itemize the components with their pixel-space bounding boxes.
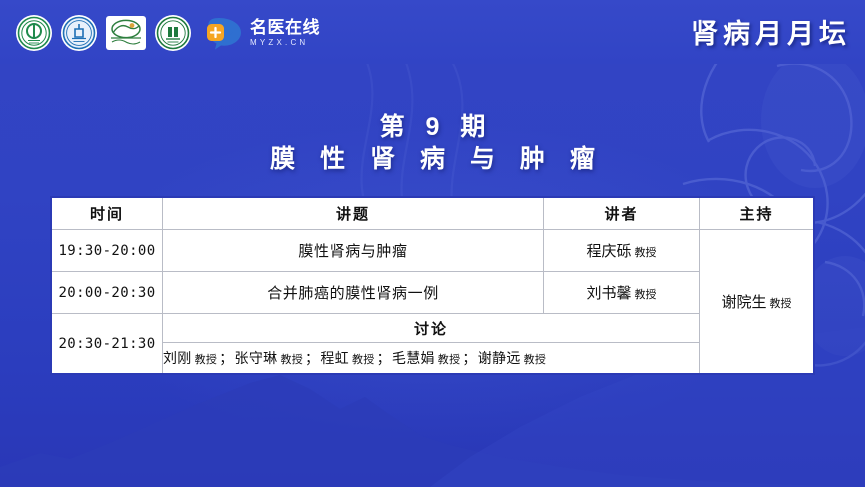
brand-title: 肾病月月坛 xyxy=(691,12,851,51)
myzx-wordmark: 名医在线 MYZX.CN xyxy=(250,19,320,47)
hospital-seal-2-icon xyxy=(61,15,97,51)
agenda-table: 时间 讲题 讲者 主持 19:30-20:00 膜性肾病与肿瘤 程庆砾教授 谢院… xyxy=(50,196,815,375)
myzx-domain: MYZX.CN xyxy=(250,39,320,47)
myzx-logo: 名医在线 MYZX.CN xyxy=(206,16,320,50)
issue-number: 第 9 期 xyxy=(0,112,865,143)
panelist-separator: ； xyxy=(462,350,476,366)
column-header-speaker: 讲者 xyxy=(544,197,700,230)
session-host: 谢院生教授 xyxy=(700,230,815,375)
myzx-name-cn: 名医在线 xyxy=(250,19,320,36)
host-title: 教授 xyxy=(770,298,792,310)
speaker-name: 刘书馨 xyxy=(586,285,631,302)
session-topic: 合并肺癌的膜性肾病一例 xyxy=(163,272,544,314)
column-header-host: 主持 xyxy=(700,197,815,230)
table-header-row: 时间 讲题 讲者 主持 xyxy=(51,197,814,230)
table-row: 19:30-20:00 膜性肾病与肿瘤 程庆砾教授 谢院生教授 xyxy=(51,230,814,272)
panelist-title: 教授 xyxy=(280,354,303,366)
session-topic: 膜 性 肾 病 与 肿 瘤 xyxy=(0,143,865,177)
top-bar: 名医在线 MYZX.CN 肾病月月坛 xyxy=(0,0,865,64)
speaker-name: 程庆砾 xyxy=(586,243,631,260)
panelist-name: 张守琳 xyxy=(235,350,278,366)
hospital-emblem-3-icon xyxy=(106,16,146,50)
panelist-title: 教授 xyxy=(524,354,547,366)
panelist-name: 谢静远 xyxy=(478,350,521,366)
column-header-topic: 讲题 xyxy=(163,197,544,230)
session-speaker: 刘书馨教授 xyxy=(544,272,700,314)
slide-root: 名医在线 MYZX.CN 肾病月月坛 第 9 期 膜 性 肾 病 与 肿 瘤 时… xyxy=(0,0,865,487)
agenda-container: 时间 讲题 讲者 主持 19:30-20:00 膜性肾病与肿瘤 程庆砾教授 谢院… xyxy=(50,196,810,375)
session-topic: 膜性肾病与肿瘤 xyxy=(163,230,544,272)
discussion-panelists: 刘刚教授；张守琳教授；程虹教授；毛慧娟教授；谢静远教授 xyxy=(163,343,700,375)
partner-logo-strip: 名医在线 MYZX.CN xyxy=(16,14,320,52)
panelist-name: 程虹 xyxy=(320,350,349,366)
session-time: 19:30-20:00 xyxy=(51,230,163,272)
column-header-time: 时间 xyxy=(51,197,163,230)
session-speaker: 程庆砾教授 xyxy=(544,230,700,272)
speaker-title: 教授 xyxy=(635,289,657,301)
session-time: 20:00-20:30 xyxy=(51,272,163,314)
host-name: 谢院生 xyxy=(721,294,766,311)
discussion-label: 讨论 xyxy=(163,314,700,343)
discussion-time: 20:30-21:30 xyxy=(51,314,163,375)
panelist-name: 刘刚 xyxy=(163,350,192,366)
panelist-separator: ； xyxy=(377,350,391,366)
speaker-title: 教授 xyxy=(635,247,657,259)
panelist-title: 教授 xyxy=(438,354,461,366)
hospital-seal-1-icon xyxy=(16,15,52,51)
hospital-seal-4-icon xyxy=(155,15,191,51)
panelist-separator: ； xyxy=(219,350,233,366)
panelist-title: 教授 xyxy=(352,354,375,366)
panelist-title: 教授 xyxy=(195,354,218,366)
myzx-play-bubble-icon xyxy=(206,16,244,50)
panelist-separator: ； xyxy=(305,350,319,366)
panelist-name: 毛慧娟 xyxy=(392,350,435,366)
page-title: 第 9 期 膜 性 肾 病 与 肿 瘤 xyxy=(0,112,865,177)
